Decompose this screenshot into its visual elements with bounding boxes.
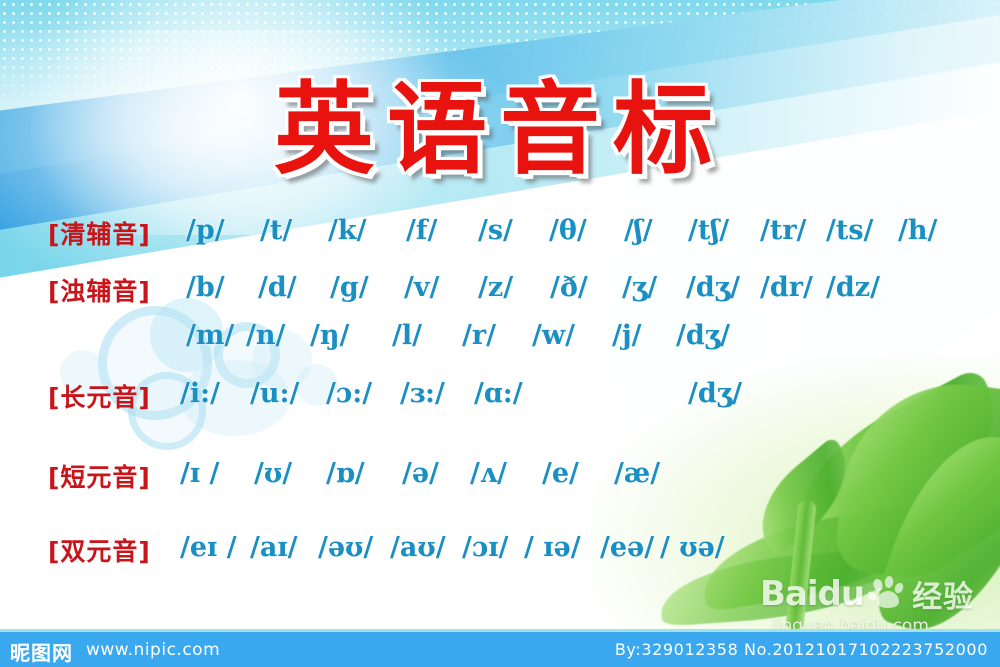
phonetic-symbol: /ɔɪ/ [462, 532, 508, 563]
phonetic-row-label: [浊辅音] [48, 272, 151, 308]
phonetic-symbol: /z/ [478, 272, 513, 303]
phonetic-symbol: /k/ [328, 215, 366, 246]
phonetic-symbol: /dʒ/ [688, 378, 742, 409]
phonetic-symbol: /ʒ/ [622, 272, 657, 303]
nipic-logo: 昵图网 [10, 637, 73, 666]
phonetic-symbol: /ə/ [402, 458, 439, 489]
phonetic-symbol: /d/ [258, 272, 297, 303]
phonetic-symbol: /eə/ [600, 532, 654, 563]
phonetic-symbol: /e/ [542, 458, 579, 489]
phonetic-symbol: /m/ [186, 320, 234, 351]
phonetic-symbol: /j/ [612, 320, 642, 351]
phonetic-symbol: /r/ [462, 320, 496, 351]
phonetic-symbol: /ŋ/ [310, 320, 349, 351]
phonetic-symbol: /h/ [898, 215, 937, 246]
phonetic-symbol: /æ/ [614, 458, 660, 489]
phonetic-symbol: /ɑ:/ [474, 378, 523, 409]
phonetic-symbol: / ɪə/ [524, 532, 581, 563]
phonetic-symbol: /g/ [330, 272, 369, 303]
bottom-bar: 昵图网 www.nipic.com By:329012358 No.201210… [0, 629, 1000, 667]
phonetic-symbol: /aʊ/ [390, 532, 446, 563]
phonetic-symbol: /ɔ:/ [326, 378, 372, 409]
phonetic-symbol: /θ/ [549, 215, 587, 246]
phonetic-symbol: /ɒ/ [326, 458, 365, 489]
phonetic-symbol: /n/ [246, 320, 285, 351]
baidu-watermark: Baidu 经验 [760, 572, 974, 616]
phonetic-symbol: /ʊ/ [254, 458, 292, 489]
phonetic-symbol: /aɪ/ [250, 532, 297, 563]
phonetic-symbol: /ts/ [826, 215, 873, 246]
phonetic-symbol: /əʊ/ [318, 532, 373, 563]
baidu-logo-text: Baidu [760, 574, 864, 614]
phonetic-symbol: /ʃ/ [624, 215, 653, 246]
phonetic-row-label: [双元音] [48, 532, 151, 568]
phonetic-symbol: /ð/ [550, 272, 588, 303]
phonetic-table: [清辅音]/p//t//k//f//s//θ//ʃ//tʃ//tr//ts//h… [0, 0, 1000, 667]
phonetic-row-label: [长元音] [48, 378, 151, 414]
phonetic-symbol: /s/ [478, 215, 513, 246]
phonetic-symbol: /l/ [392, 320, 422, 351]
phonetic-symbol: /b/ [186, 272, 225, 303]
phonetic-symbol: /i:/ [180, 378, 220, 409]
phonetic-symbol: /ʌ/ [470, 458, 507, 489]
phonetic-symbol: /ɜ:/ [400, 378, 445, 409]
nipic-url: www.nipic.com [86, 640, 220, 660]
phonetic-symbol: /u:/ [250, 378, 299, 409]
phonetic-row-label: [清辅音] [48, 215, 151, 251]
phonetic-symbol: /t/ [260, 215, 292, 246]
phonetic-symbol: /dʒ/ [686, 272, 740, 303]
phonetic-symbol: /dʒ/ [676, 320, 730, 351]
phonetic-symbol: /eɪ / [180, 532, 237, 563]
phonetic-symbol: /w/ [532, 320, 575, 351]
phonetic-symbol: / ʊə/ [660, 532, 725, 563]
baidu-paw-icon [868, 576, 908, 612]
baidu-experience-label: 经验 [912, 572, 974, 616]
phonetic-symbol: /dz/ [826, 272, 880, 303]
credit-text: By:329012358 No.20121017102223752000 [615, 640, 988, 659]
phonetic-symbol: /p/ [186, 215, 225, 246]
phonetic-symbol: /tr/ [760, 215, 806, 246]
phonetic-symbol: /tʃ/ [688, 215, 729, 246]
phonetic-symbol: /dr/ [760, 272, 813, 303]
phonetic-symbol: /f/ [406, 215, 437, 246]
phonetic-row-label: [短元音] [48, 458, 151, 494]
phonetic-symbol: /v/ [404, 272, 439, 303]
poster-canvas: 英语音标 [清辅音]/p//t//k//f//s//θ//ʃ//tʃ//tr//… [0, 0, 1000, 667]
phonetic-symbol: /ɪ / [180, 458, 219, 489]
